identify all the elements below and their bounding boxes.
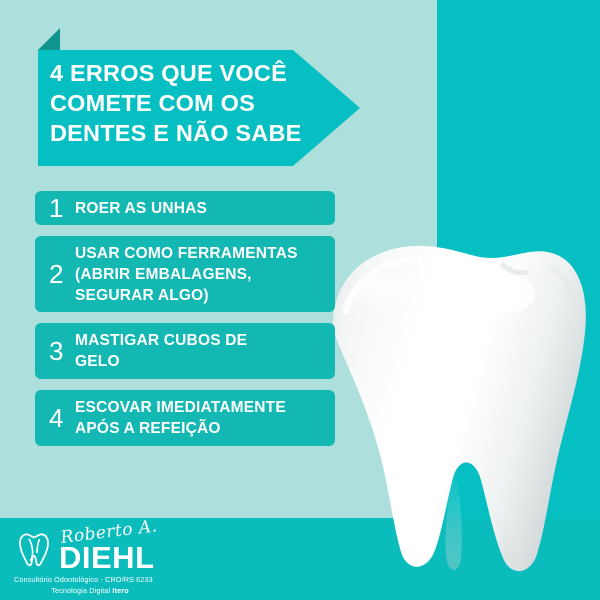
- logo-credential-line: Consultório Odontológico - CRO/RS 6233: [14, 575, 214, 584]
- tips-list: 1 ROER AS UNHAS 2 USAR COMO FERRAMENTAS …: [35, 191, 335, 457]
- tip-number: 4: [49, 405, 73, 431]
- footer-logo-block: Roberto A. DIEHL Consultório Odontológic…: [14, 528, 214, 595]
- tip-label: ESCOVAR IMEDIATAMENTE APÓS A REFEIÇÃO: [73, 397, 286, 439]
- list-item: 2 USAR COMO FERRAMENTAS (ABRIR EMBALAGEN…: [35, 236, 335, 312]
- list-item: 3 MASTIGAR CUBOS DE GELO: [35, 323, 335, 379]
- tooth-outline-logo-icon: [14, 530, 54, 570]
- tip-number: 2: [49, 261, 73, 287]
- page-title: 4 ERROS QUE VOCÊ COMETE COM OS DENTES E …: [50, 58, 325, 148]
- banner-fold-corner-icon: [38, 28, 60, 50]
- poster-root: 4 ERROS QUE VOCÊ COMETE COM OS DENTES E …: [0, 0, 600, 600]
- tip-number: 3: [49, 338, 73, 364]
- logo-row: Roberto A. DIEHL: [14, 528, 214, 572]
- logo-technology-prefix: Tecnologia Digital: [51, 586, 112, 595]
- tip-label: MASTIGAR CUBOS DE GELO: [73, 330, 247, 372]
- tooth-molar-illustration: [305, 228, 595, 583]
- tip-number: 1: [49, 195, 73, 221]
- tip-label: USAR COMO FERRAMENTAS (ABRIR EMBALAGENS,…: [73, 243, 298, 306]
- list-item: 1 ROER AS UNHAS: [35, 191, 335, 225]
- logo-technology-brand: Itero: [112, 586, 128, 595]
- logo-technology-line: Tecnologia Digital Itero: [14, 586, 166, 595]
- tip-label: ROER AS UNHAS: [73, 198, 207, 219]
- list-item: 4 ESCOVAR IMEDIATAMENTE APÓS A REFEIÇÃO: [35, 390, 335, 446]
- logo-brand-name: DIEHL: [59, 542, 155, 573]
